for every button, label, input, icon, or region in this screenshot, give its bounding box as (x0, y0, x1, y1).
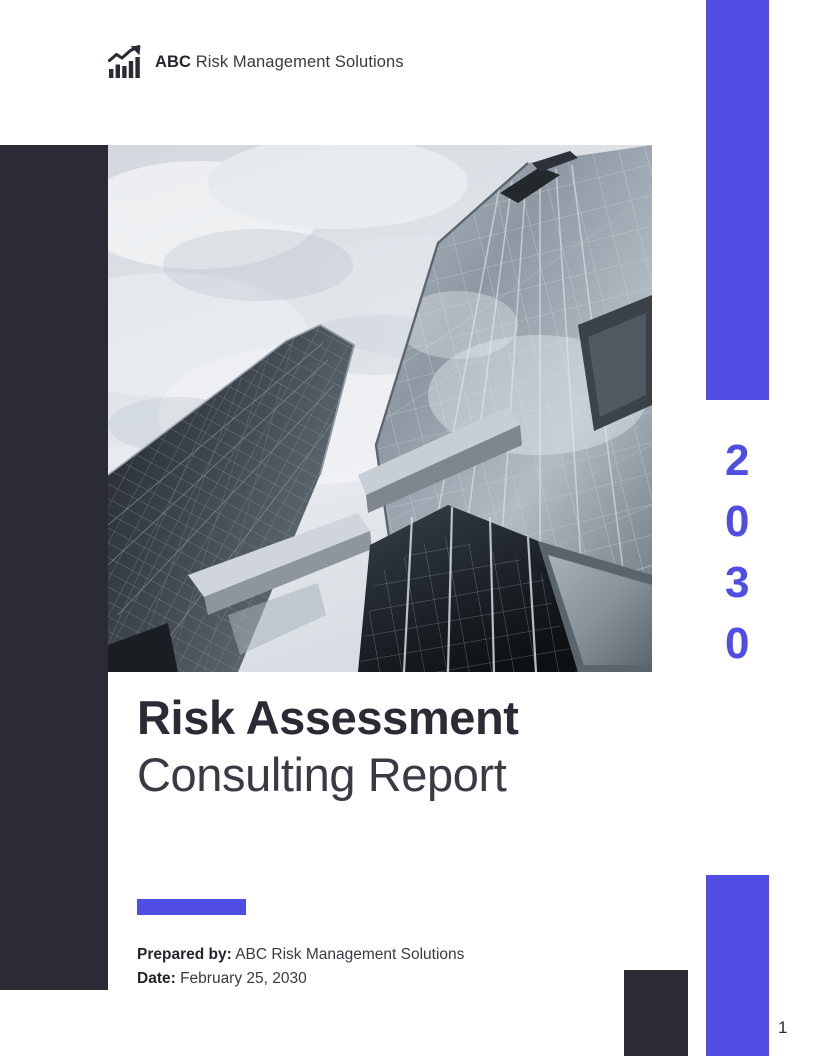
brand-abbreviation: ABC (155, 53, 191, 71)
date-value: February 25, 2030 (176, 970, 307, 987)
year-digit: 3 (725, 552, 750, 613)
title-secondary-line: Consulting Report (137, 746, 677, 804)
prepared-by-row: Prepared by: ABC Risk Management Solutio… (137, 943, 464, 967)
page-number: 1 (778, 1018, 787, 1038)
top-right-purple-bar (706, 0, 769, 400)
year-vertical-stack: 2 0 3 0 (706, 430, 769, 674)
date-row: Date: February 25, 2030 (137, 967, 464, 991)
year-digit: 0 (725, 491, 750, 552)
year-digit: 0 (725, 613, 750, 674)
year-digit: 2 (725, 430, 750, 491)
document-header: ABC Risk Management Solutions (108, 45, 404, 79)
skyscraper-photo-illustration (108, 145, 652, 672)
brand-full-name: Risk Management Solutions (191, 53, 404, 71)
bottom-dark-accent-block (624, 970, 688, 1056)
title-primary-line: Risk Assessment (137, 690, 677, 746)
left-dark-panel (0, 145, 108, 990)
bar-chart-growth-icon (108, 45, 144, 79)
brand-name: ABC Risk Management Solutions (155, 53, 404, 72)
document-metadata: Prepared by: ABC Risk Management Solutio… (137, 943, 464, 990)
cover-photo (108, 145, 652, 672)
page-title: Risk Assessment Consulting Report (137, 690, 677, 804)
bottom-right-purple-bar (706, 875, 769, 1056)
purple-accent-rule (137, 899, 246, 915)
prepared-by-label: Prepared by: (137, 946, 232, 963)
date-label: Date: (137, 970, 176, 987)
prepared-by-value: ABC Risk Management Solutions (232, 946, 465, 963)
